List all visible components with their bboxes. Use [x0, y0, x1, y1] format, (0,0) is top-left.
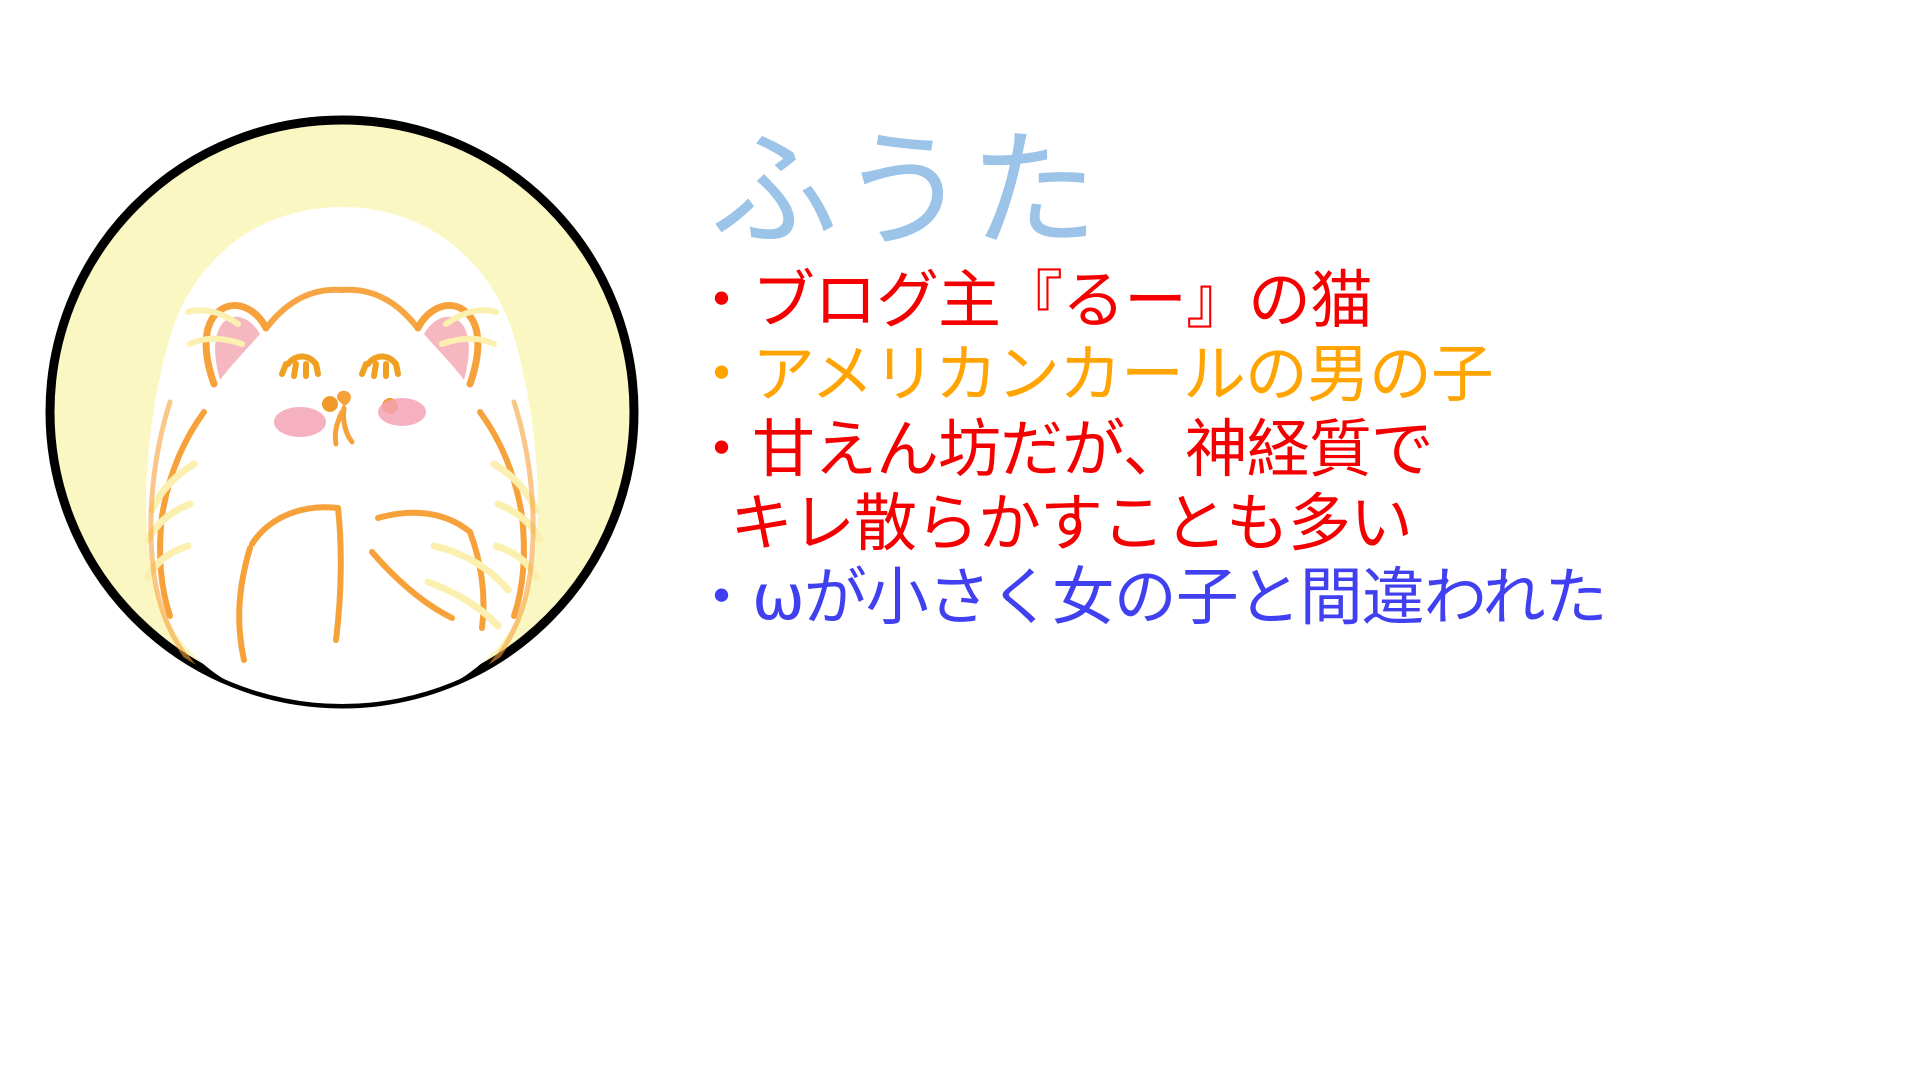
list-item-label: ωが小さく女の子と間違われた [752, 561, 1607, 634]
profile-text-panel: ふうた ・ブログ主『るー』の猫 ・アメリカンカールの男の子 ・甘えん坊だが、神経… [690, 128, 1870, 828]
list-item-label: アメリカンカールの男の子 [752, 338, 1493, 411]
cat-avatar [42, 112, 642, 712]
page-title: ふうた [690, 128, 1870, 256]
list-item: ・ωが小さく女の子と間違われた [690, 561, 1870, 635]
list-item: ・アメリカンカールの男の子 [690, 338, 1870, 412]
list-item: ・ブログ主『るー』の猫 [690, 264, 1870, 338]
profile-card-page: ふうた ・ブログ主『るー』の猫 ・アメリカンカールの男の子 ・甘えん坊だが、神経… [0, 0, 1920, 1080]
cat-head-shape [209, 232, 475, 464]
cat-cheek-right [378, 398, 426, 426]
list-item: キレ散らかすことも多い [690, 487, 1870, 561]
cat-cheek-left [274, 407, 326, 437]
list-item-label: ブログ主『るー』の猫 [752, 264, 1372, 337]
profile-bullet-list: ・ブログ主『るー』の猫 ・アメリカンカールの男の子 ・甘えん坊だが、神経質で キ… [690, 264, 1870, 636]
bullet-marker: ・ [690, 413, 752, 487]
bullet-marker: ・ [690, 338, 752, 412]
cat-avatar-svg [42, 112, 642, 712]
list-item-label: 甘えん坊だが、神経質で [752, 413, 1433, 486]
list-item: ・甘えん坊だが、神経質で [690, 413, 1870, 487]
cat-whisker-dot-left [322, 396, 338, 412]
bullet-marker: ・ [690, 264, 752, 338]
list-item-label: キレ散らかすことも多い [730, 487, 1412, 560]
bullet-marker: ・ [690, 561, 752, 635]
